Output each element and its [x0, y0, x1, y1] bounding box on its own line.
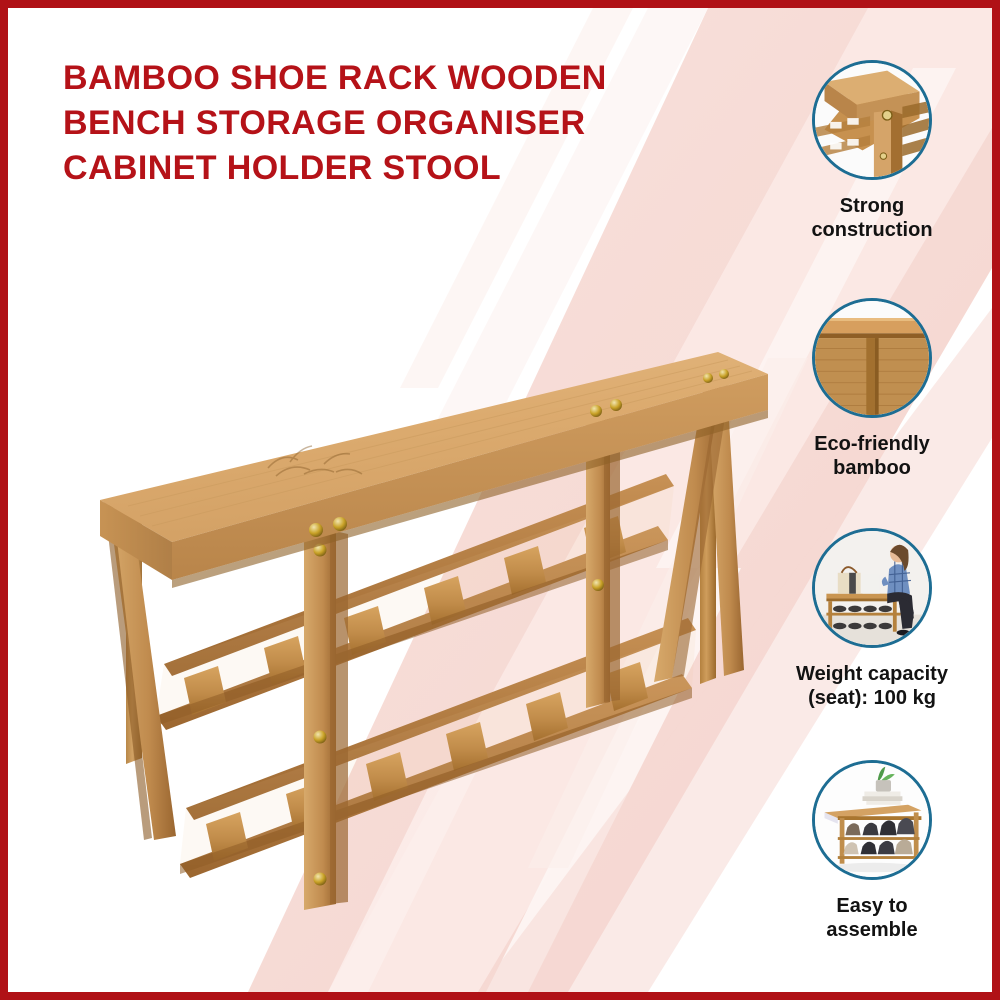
feature-easy-to-assemble: Easy to assemble — [766, 760, 978, 943]
feature-label: Weight capacity (seat): 100 kg — [766, 662, 978, 711]
bamboo-grain-closeup-icon — [812, 298, 932, 418]
screw-icon — [703, 373, 713, 383]
screw-icon — [309, 523, 323, 537]
title-line-2: BENCH STORAGE ORGANISER — [63, 101, 683, 146]
title-line-3: CABINET HOLDER STOOL — [63, 146, 683, 191]
product-title: BAMBOO SHOE RACK WOODEN BENCH STORAGE OR… — [63, 56, 683, 192]
person-seated-on-bench-icon — [812, 528, 932, 648]
feature-label-line-1: Weight capacity — [766, 662, 978, 686]
feature-strong-construction: Strong construction — [766, 60, 978, 243]
screw-icon — [610, 399, 622, 411]
title-line-1: BAMBOO SHOE RACK WOODEN — [63, 56, 683, 101]
feature-label-line-2: bamboo — [766, 456, 978, 480]
bench-seat-top — [100, 352, 768, 588]
product-image — [68, 278, 798, 938]
screw-icon — [590, 405, 602, 417]
bamboo-bench-illustration — [68, 278, 798, 938]
poster-canvas: BAMBOO SHOE RACK WOODEN BENCH STORAGE OR… — [8, 8, 992, 992]
feature-label: Eco-friendly bamboo — [766, 432, 978, 481]
feature-label-line-1: Eco-friendly — [766, 432, 978, 456]
poster-frame: BAMBOO SHOE RACK WOODEN BENCH STORAGE OR… — [0, 0, 1000, 1000]
screw-icon — [592, 579, 604, 591]
feature-label: Easy to assemble — [766, 894, 978, 943]
screw-icon — [719, 369, 729, 379]
feature-label-line-1: Easy to — [766, 894, 978, 918]
feature-weight-capacity: Weight capacity (seat): 100 kg — [766, 528, 978, 711]
feature-label-line-2: (seat): 100 kg — [766, 686, 978, 710]
feature-label: Strong construction — [766, 194, 978, 243]
assembled-shoe-rack-icon — [812, 760, 932, 880]
screw-icon — [314, 731, 327, 744]
feature-label-line-2: assemble — [766, 918, 978, 942]
feature-label-line-2: construction — [766, 218, 978, 242]
feature-label-line-1: Strong — [766, 194, 978, 218]
feature-eco-friendly-bamboo: Eco-friendly bamboo — [766, 298, 978, 481]
feature-callout-rail: Strong construction — [766, 60, 978, 960]
bench-front-left-leg — [304, 530, 348, 910]
screw-icon — [333, 517, 347, 531]
screw-icon — [314, 873, 327, 886]
bench-corner-closeup-icon — [812, 60, 932, 180]
